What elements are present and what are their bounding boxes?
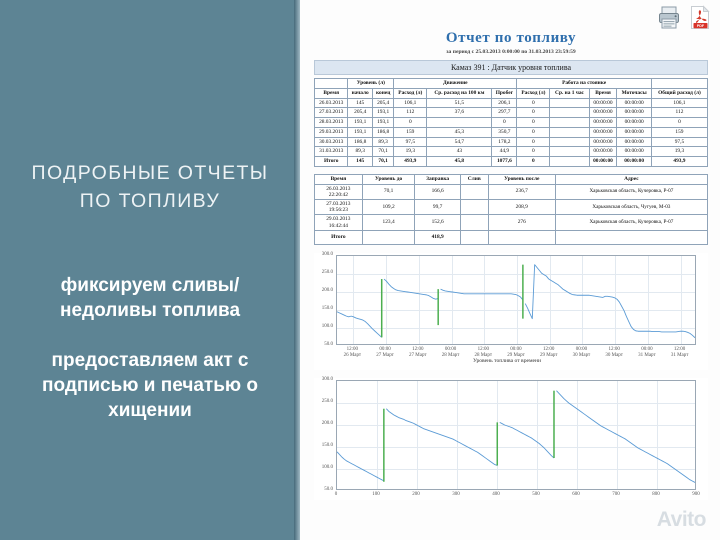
table-cell: 0: [517, 157, 550, 167]
chart-x-tick-label: 200: [400, 492, 432, 499]
table-cell: 208,9: [488, 199, 555, 214]
table-column-header: Расход (л): [517, 88, 550, 98]
chart-y-tick-label: 100.0: [314, 465, 333, 470]
table-cell: [460, 215, 488, 230]
promo-headline: ПОДРОБНЫЕ ОТЧЕТЫ ПО ТОПЛИВУ: [18, 160, 283, 215]
table-row: 30.03.2013186,889,397,554,7178,2000:00:0…: [315, 137, 708, 147]
table-column-header: Время: [315, 174, 363, 184]
table-cell: 70,1: [373, 157, 394, 167]
table-column-header: Время: [589, 88, 617, 98]
table-cell: 31.03.2013: [315, 147, 348, 157]
table-cell: 178,2: [492, 137, 517, 147]
table-column-header: Адрес: [555, 174, 707, 184]
table-row: 26.03.2013 22:20:4270,1166,6236,7Харьков…: [315, 184, 708, 199]
table-cell: 193,1: [373, 108, 394, 118]
table-row: 29.03.2013 16:42:44123,4152,6276Харьковс…: [315, 215, 708, 230]
table-cell: 145: [348, 98, 373, 108]
table-cell: 26.03.2013: [315, 98, 348, 108]
table-cell: 276: [488, 215, 555, 230]
table-cell: Итого: [315, 230, 363, 244]
table-column-header: Уровень после: [488, 174, 555, 184]
table-cell: 89,3: [348, 147, 373, 157]
table-cell: [488, 230, 555, 244]
table-cell: 193,1: [373, 118, 394, 128]
report-period-subtitle: за период с 25.03.2013 0:00:00 по 31.03.…: [310, 49, 712, 55]
table-cell: [550, 98, 589, 108]
chart-y-tick-label: 300.0: [314, 377, 333, 382]
table-cell: [550, 137, 589, 147]
promo-tagline-drain: фиксируем сливы/ недоливы топлива: [42, 273, 258, 323]
table-cell: 26.03.2013 22:20:42: [315, 184, 363, 199]
table-cell: 205,4: [348, 108, 373, 118]
pdf-icon[interactable]: PDF: [688, 5, 712, 30]
table-cell: 00:00:00: [617, 98, 651, 108]
table-cell: 29.03.2013 16:42:44: [315, 215, 363, 230]
chart-plot-area: [336, 380, 696, 490]
table-cell: 166,6: [415, 184, 460, 199]
table-cell: Харьковская область, Чугуев, М-03: [555, 199, 707, 214]
table-cell: 193,1: [348, 127, 373, 137]
table-row: 26.03.2013145205,4106,151,5206,1000:00:0…: [315, 98, 708, 108]
chart-x-axis-label: Уровень топлива от времени: [314, 358, 700, 364]
fuel-level-distance-chart: 50.0100.0150.0200.0250.0300.001002003004…: [314, 378, 708, 500]
table-cell: 205,4: [373, 98, 394, 108]
table-cell: [550, 118, 589, 128]
table-cell: 00:00:00: [589, 118, 617, 128]
table-cell: 30.03.2013: [315, 137, 348, 147]
table-cell: 193,1: [348, 118, 373, 128]
chart-x-tick-label: 500: [520, 492, 552, 499]
table-cell: 44,9: [492, 147, 517, 157]
table-group-header: [651, 79, 707, 89]
table-cell: 106,1: [394, 98, 427, 108]
chart-y-tick-label: 150.0: [314, 306, 333, 311]
table-cell: 00:00:00: [589, 98, 617, 108]
table-cell: 54,7: [427, 137, 492, 147]
table-cell: 0: [517, 108, 550, 118]
chart-y-tick-label: 100.0: [314, 324, 333, 329]
table-cell: 37,6: [427, 108, 492, 118]
chart-x-tick-label: 100: [360, 492, 392, 499]
table-cell: 493,9: [651, 157, 707, 167]
table-cell: Харьковская область, Кучеровка, Р-07: [555, 184, 707, 199]
table-cell: 0: [517, 127, 550, 137]
table-column-header: Заправка: [415, 174, 460, 184]
avito-watermark: Avito: [657, 508, 706, 532]
table-cell: 493,9: [394, 157, 427, 167]
report-title: Отчет по топливу: [310, 30, 712, 47]
table-cell: 00:00:00: [589, 108, 617, 118]
table-cell: 00:00:00: [617, 108, 651, 118]
table-cell: 0: [517, 137, 550, 147]
table-row: 27.03.2013 19:56:23109,299,7208,9Харьков…: [315, 199, 708, 214]
chart-plot-area: [336, 255, 696, 345]
table-group-header-row: Уровень (л)ДвижениеРабота на стоянке: [315, 79, 708, 89]
table-cell: 99,7: [415, 199, 460, 214]
table-cell: [550, 127, 589, 137]
table-cell: [555, 230, 707, 244]
chart-x-tick-label: 0: [320, 492, 352, 499]
chart-x-tick-label: 300: [440, 492, 472, 499]
fuel-report-document: PDF Отчет по топливу за период с 25.03.2…: [300, 0, 720, 540]
table-cell: 0: [517, 118, 550, 128]
table-cell: 145: [348, 157, 373, 167]
table-cell: 19,3: [651, 147, 707, 157]
chart-y-tick-label: 250.0: [314, 270, 333, 275]
promo-tagline-act: предоставляем акт с подписью и печатью о…: [26, 348, 274, 423]
device-name-bar: Камаз 391 : Датчик уровня топлива: [314, 60, 708, 75]
table-column-header: Пробег: [492, 88, 517, 98]
chart-y-tick-label: 250.0: [314, 399, 333, 404]
table-cell: 28.03.2013: [315, 118, 348, 128]
table-cell: Харьковская область, Кучеровка, Р-07: [555, 215, 707, 230]
chart-series-layer: [337, 381, 696, 490]
table-cell: 106,1: [651, 98, 707, 108]
table-header-row: ВремяУровень доЗаправкаСливУровень после…: [315, 174, 708, 184]
chart-x-tick-label: 900: [680, 492, 712, 499]
table-cell: Итого: [315, 157, 348, 167]
table-cell: 00:00:00: [589, 137, 617, 147]
table-header-row: ВремяначалоконецРасход (л)Ср. расход на …: [315, 88, 708, 98]
table-total-row: Итого418,9: [315, 230, 708, 244]
table-cell: 97,5: [394, 137, 427, 147]
table-cell: 206,1: [492, 98, 517, 108]
table-cell: 00:00:00: [617, 147, 651, 157]
promo-panel: ПОДРОБНЫЕ ОТЧЕТЫ ПО ТОПЛИВУ фиксируем сл…: [0, 0, 300, 540]
table-cell: [460, 184, 488, 199]
table-cell: 89,3: [373, 137, 394, 147]
table-cell: 112: [651, 108, 707, 118]
table-cell: 00:00:00: [589, 147, 617, 157]
table-cell: 00:00:00: [617, 157, 651, 167]
table-cell: [362, 230, 415, 244]
chart-line-series: [337, 390, 696, 482]
table-row: 29.03.2013193,1186,815945,3350,7000:00:0…: [315, 127, 708, 137]
table-row: 27.03.2013205,4193,111237,6297,7000:00:0…: [315, 108, 708, 118]
table-cell: 0: [651, 118, 707, 128]
report-toolbar: PDF: [657, 5, 712, 30]
svg-text:PDF: PDF: [697, 24, 705, 28]
table-group-header: Уровень (л): [348, 79, 394, 89]
chart-y-tick-label: 150.0: [314, 443, 333, 448]
table-column-header: Расход (л): [394, 88, 427, 98]
table-cell: 97,5: [651, 137, 707, 147]
chart-x-tick-label: 700: [600, 492, 632, 499]
table-cell: 29.03.2013: [315, 127, 348, 137]
table-cell: 45,3: [427, 127, 492, 137]
chart-y-tick-label: 50.0: [314, 342, 333, 347]
table-cell: 70,1: [373, 147, 394, 157]
chart-line-series: [337, 264, 696, 338]
table-column-header: начало: [348, 88, 373, 98]
table-cell: 00:00:00: [617, 118, 651, 128]
table-cell: 00:00:00: [589, 127, 617, 137]
chart-y-tick-label: 200.0: [314, 288, 333, 293]
table-column-header: Уровень до: [362, 174, 415, 184]
table-total-row: Итого14570,1493,945,81077,6000:00:0000:0…: [315, 157, 708, 167]
table-cell: 297,7: [492, 108, 517, 118]
table-cell: 418,9: [415, 230, 460, 244]
table-cell: 19,3: [394, 147, 427, 157]
table-cell: 350,7: [492, 127, 517, 137]
table-cell: 1077,6: [492, 157, 517, 167]
printer-icon[interactable]: [657, 5, 681, 30]
summary-table: Уровень (л)ДвижениеРабота на стоянке Вре…: [314, 78, 708, 167]
table-column-header: Время: [315, 88, 348, 98]
chart-x-tick-label: 600: [560, 492, 592, 499]
table-cell: 0: [517, 98, 550, 108]
fuel-level-time-chart: 50.0100.0150.0200.0250.0300.012:00 26 Ма…: [314, 253, 708, 370]
table-cell: 43: [427, 147, 492, 157]
table-cell: 00:00:00: [617, 137, 651, 147]
table-group-header: Работа на стоянке: [517, 79, 652, 89]
table-cell: 186,8: [373, 127, 394, 137]
table-cell: [550, 157, 589, 167]
table-cell: 70,1: [362, 184, 415, 199]
table-cell: 00:00:00: [589, 157, 617, 167]
table-cell: 27.03.2013 19:56:23: [315, 199, 363, 214]
table-cell: 159: [651, 127, 707, 137]
table-row: 31.03.201389,370,119,34344,9000:00:0000:…: [315, 147, 708, 157]
table-cell: 45,8: [427, 157, 492, 167]
table-cell: 51,5: [427, 98, 492, 108]
table-cell: 236,7: [488, 184, 555, 199]
table-cell: [550, 147, 589, 157]
table-cell: 0: [394, 118, 427, 128]
table-cell: 0: [517, 147, 550, 157]
chart-series-layer: [337, 256, 696, 345]
table-column-header: Ср. расход на 100 км: [427, 88, 492, 98]
table-cell: 00:00:00: [617, 127, 651, 137]
table-cell: 0: [492, 118, 517, 128]
table-row: 28.03.2013193,1193,100000:00:0000:00:000: [315, 118, 708, 128]
table-cell: [460, 230, 488, 244]
chart-y-tick-label: 300.0: [314, 252, 333, 257]
refuel-events-table: ВремяУровень доЗаправкаСливУровень после…: [314, 174, 708, 245]
table-column-header: Ср. на 1 час: [550, 88, 589, 98]
table-column-header: конец: [373, 88, 394, 98]
table-group-header: Движение: [394, 79, 517, 89]
table-cell: 27.03.2013: [315, 108, 348, 118]
table-cell: [427, 118, 492, 128]
table-group-header: [315, 79, 348, 89]
table-cell: 123,4: [362, 215, 415, 230]
chart-x-tick-label: 800: [640, 492, 672, 499]
table-cell: 112: [394, 108, 427, 118]
table-column-header: Моточасы: [617, 88, 651, 98]
table-cell: 109,2: [362, 199, 415, 214]
table-cell: [550, 108, 589, 118]
table-cell: [460, 199, 488, 214]
table-column-header: Общий расход (л): [651, 88, 707, 98]
chart-y-tick-label: 200.0: [314, 421, 333, 426]
table-cell: 186,8: [348, 137, 373, 147]
table-cell: 152,6: [415, 215, 460, 230]
table-column-header: Слив: [460, 174, 488, 184]
chart-x-tick-label: 400: [480, 492, 512, 499]
table-cell: 159: [394, 127, 427, 137]
